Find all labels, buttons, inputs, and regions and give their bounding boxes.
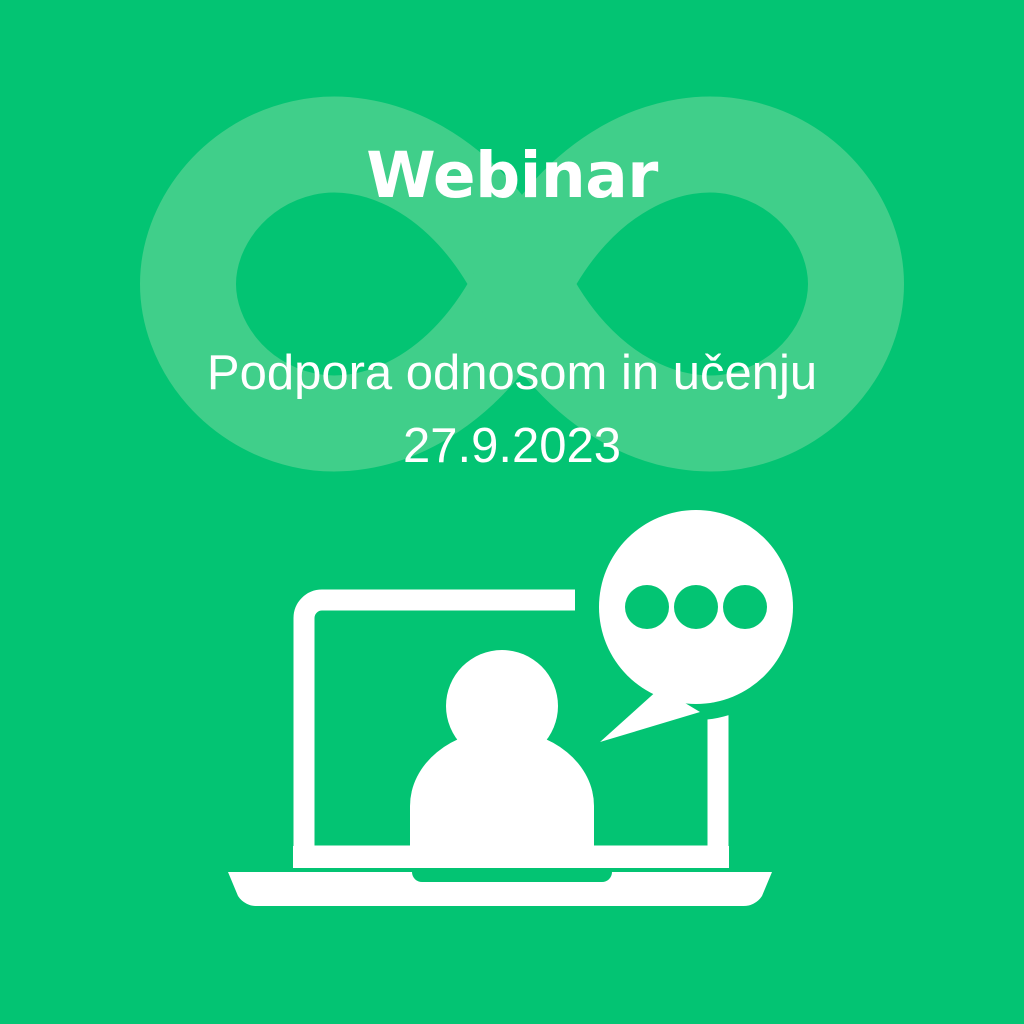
laptop-trackpad-notch [412, 872, 612, 882]
speech-bubble-dot-1 [625, 585, 669, 629]
laptop-bezel-bar [293, 846, 729, 868]
webinar-poster: Webinar Podpora odnosom in učenju 27.9.2… [0, 0, 1024, 1024]
webinar-laptop-illustration [0, 0, 1024, 1024]
speech-bubble-dot-2 [674, 585, 718, 629]
speech-bubble-icon [599, 510, 793, 742]
person-body-icon [410, 730, 594, 846]
speech-bubble-dot-3 [723, 585, 767, 629]
